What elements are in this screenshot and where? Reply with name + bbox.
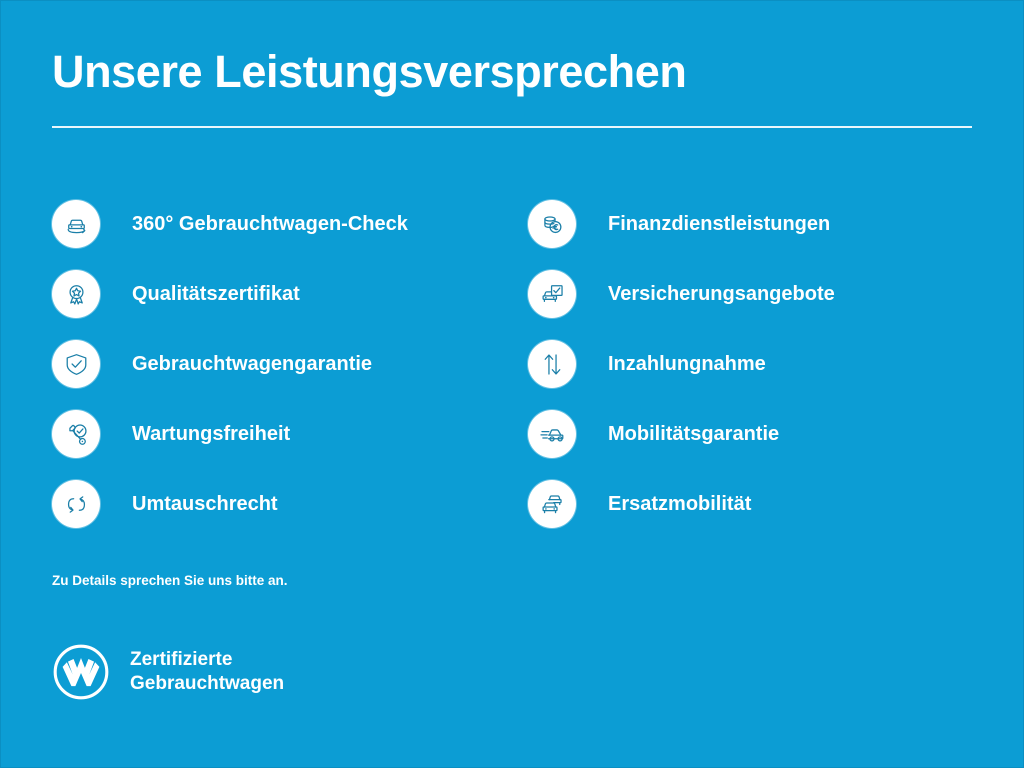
promise-item-gebrauchtwagengarantie[interactable]: Gebrauchtwagengarantie — [52, 329, 528, 399]
promise-label: Umtauschrecht — [132, 492, 278, 516]
brand-text: Zertifizierte Gebrauchtwagen — [130, 648, 284, 696]
promise-item-umtauschrecht[interactable]: Umtauschrecht — [52, 469, 528, 539]
promise-label: Wartungsfreiheit — [132, 422, 290, 446]
coins-euro-icon — [528, 200, 576, 248]
promise-item-qualitaetszertifikat[interactable]: Qualitätszertifikat — [52, 259, 528, 329]
promise-item-ersatzmobilitaet[interactable]: Ersatzmobilität — [528, 469, 972, 539]
wrench-check-icon — [52, 410, 100, 458]
shield-check-icon — [52, 340, 100, 388]
car-document-check-icon — [528, 270, 576, 318]
promise-label: Finanzdienstleistungen — [608, 212, 830, 236]
promise-grid: 360° Gebrauchtwagen-Check Finanzdienstle… — [52, 189, 972, 539]
brand-line-1: Zertifizierte — [130, 648, 284, 672]
promise-item-360-check[interactable]: 360° Gebrauchtwagen-Check — [52, 189, 528, 259]
promise-label: Gebrauchtwagengarantie — [132, 352, 372, 376]
promise-item-versicherungsangebote[interactable]: Versicherungsangebote — [528, 259, 972, 329]
promise-label: Ersatzmobilität — [608, 492, 751, 516]
page-title: Unsere Leistungsversprechen — [52, 44, 686, 100]
brand-lockup: Zertifizierte Gebrauchtwagen — [52, 643, 284, 701]
promise-label: Inzahlungnahme — [608, 352, 766, 376]
promise-label: Mobilitätsgarantie — [608, 422, 779, 446]
promise-label: Qualitätszertifikat — [132, 282, 300, 306]
promise-label: Versicherungsangebote — [608, 282, 835, 306]
award-medal-icon — [52, 270, 100, 318]
promise-item-wartungsfreiheit[interactable]: Wartungsfreiheit — [52, 399, 528, 469]
promise-label: 360° Gebrauchtwagen-Check — [132, 212, 408, 236]
promise-item-finanzdienstleistungen[interactable]: Finanzdienstleistungen — [528, 189, 972, 259]
arrows-up-down-icon — [528, 340, 576, 388]
car-motion-icon — [528, 410, 576, 458]
exchange-arrows-icon — [52, 480, 100, 528]
slide-root: Unsere Leistungsversprechen 360° Gebrauc… — [0, 0, 1024, 768]
promise-item-inzahlungnahme[interactable]: Inzahlungnahme — [528, 329, 972, 399]
car-360-check-icon — [52, 200, 100, 248]
brand-line-2: Gebrauchtwagen — [130, 672, 284, 696]
volkswagen-logo-icon — [52, 643, 110, 701]
title-divider — [52, 126, 972, 128]
two-cars-icon — [528, 480, 576, 528]
promise-item-mobilitaetsgarantie[interactable]: Mobilitätsgarantie — [528, 399, 972, 469]
footnote-text: Zu Details sprechen Sie uns bitte an. — [52, 572, 288, 590]
